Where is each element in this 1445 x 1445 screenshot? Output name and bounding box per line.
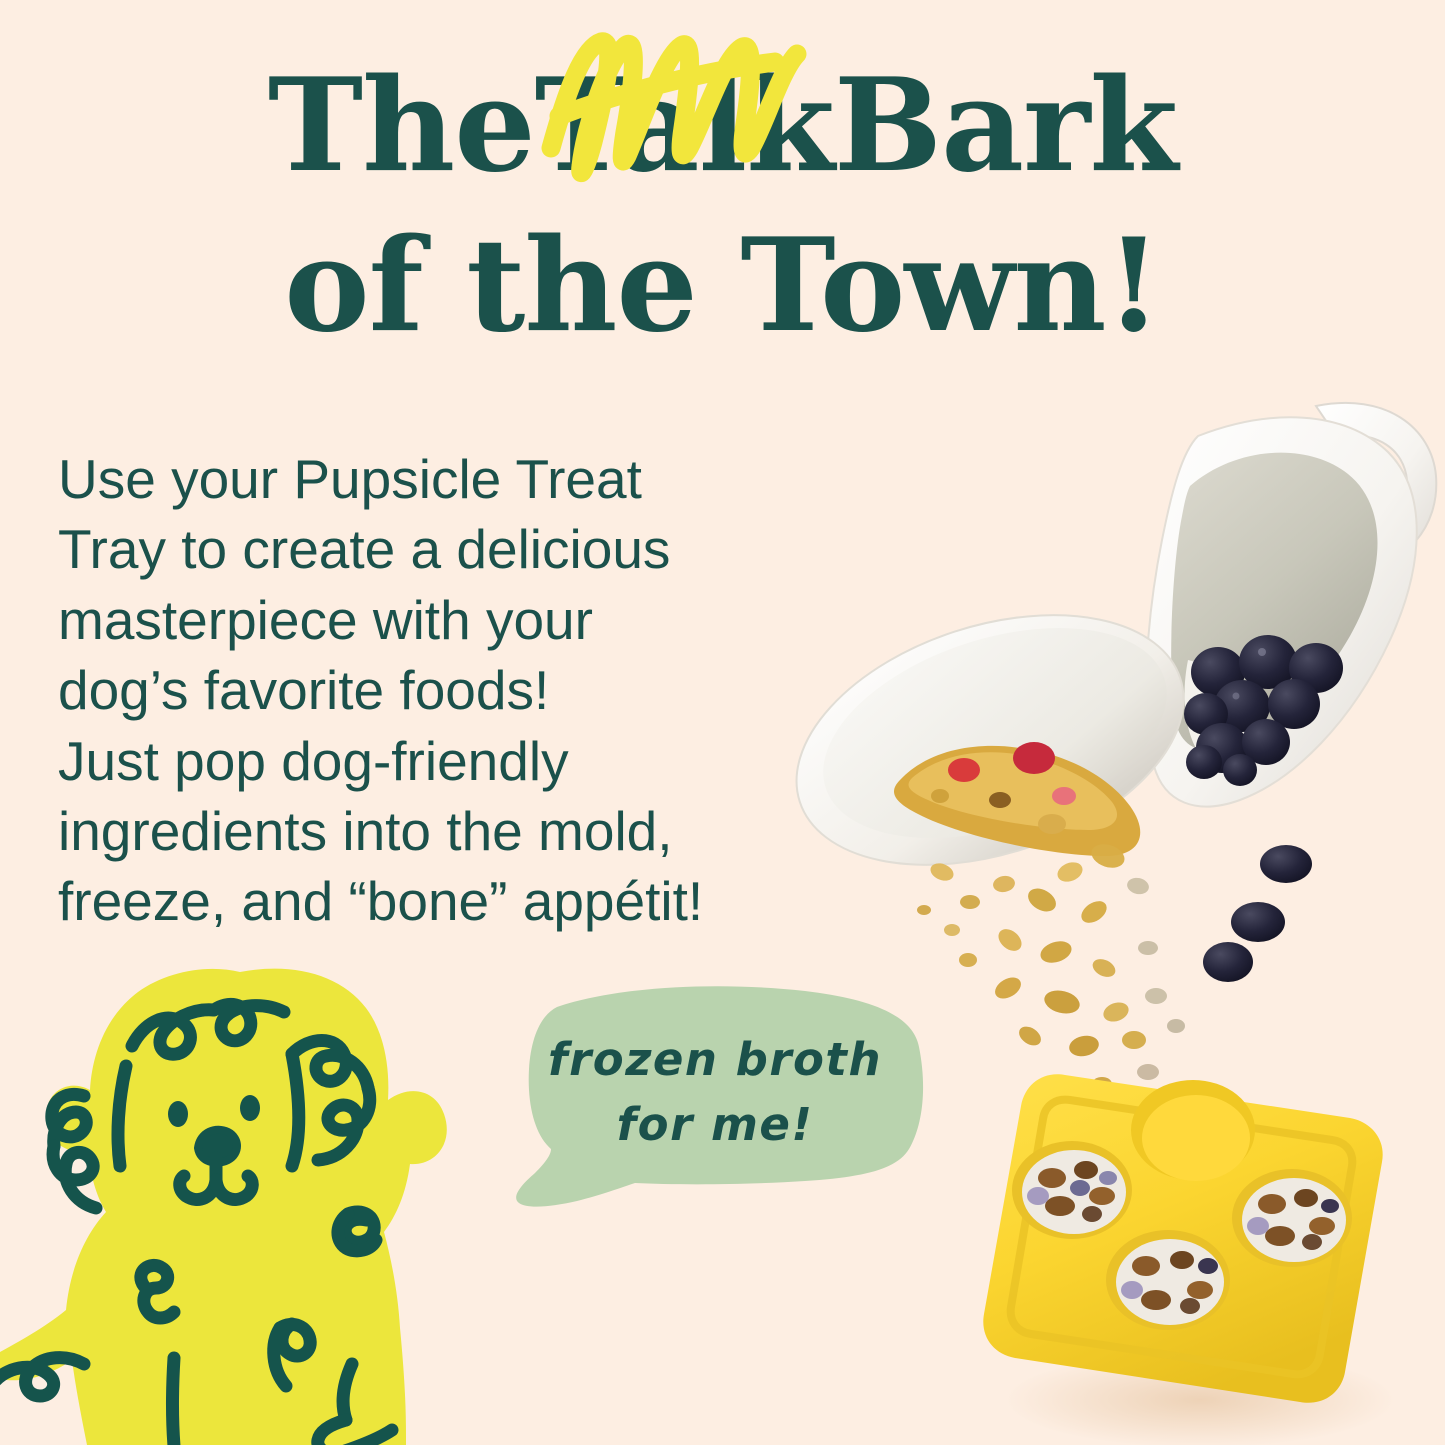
- body-line-0: Use your Pupsicle Treat: [58, 444, 858, 514]
- speech-bubble-line-1: frozen broth: [548, 1033, 882, 1086]
- dog-illustration: [0, 950, 492, 1445]
- tray-well-filled-right: [1232, 1169, 1352, 1267]
- speech-bubble-line-2: for me!: [505, 1092, 925, 1157]
- body-line-5: ingredients into the mold,: [58, 796, 858, 866]
- body-copy: Use your Pupsicle Treat Tray to create a…: [58, 444, 858, 937]
- promo-graphic: white oval bowl pouring granola with ras…: [0, 0, 1445, 1445]
- falling-blueberries: [1203, 845, 1312, 982]
- pupsicle-treat-tray-photo: [983, 1074, 1395, 1445]
- headline: The Talk Bark of the Town!: [0, 46, 1445, 366]
- tray-well-filled-left: [1012, 1141, 1132, 1239]
- headline-suffix: Bark: [834, 46, 1177, 206]
- headline-prefix: The: [268, 46, 535, 206]
- headline-struck-word: Talk: [535, 51, 834, 201]
- body-line-6: freeze, and “bone” appétit!: [58, 866, 858, 936]
- headline-struck-word-wrap: Talk: [535, 46, 834, 206]
- body-line-2: masterpiece with your: [58, 585, 858, 655]
- headline-line-1: The Talk Bark: [0, 46, 1445, 206]
- body-line-4: Just pop dog-friendly: [58, 726, 858, 796]
- speech-bubble-text: frozen broth for me!: [505, 1027, 925, 1158]
- tray-well-filled-bottom: [1106, 1230, 1230, 1330]
- body-line-1: Tray to create a delicious: [58, 514, 858, 584]
- blueberry-mug-photo: [1146, 403, 1436, 807]
- falling-granola-particles: [917, 840, 1185, 1091]
- headline-line-2: of the Town!: [0, 206, 1445, 366]
- speech-bubble: frozen broth for me!: [505, 985, 935, 1235]
- body-line-3: dog’s favorite foods!: [58, 655, 858, 725]
